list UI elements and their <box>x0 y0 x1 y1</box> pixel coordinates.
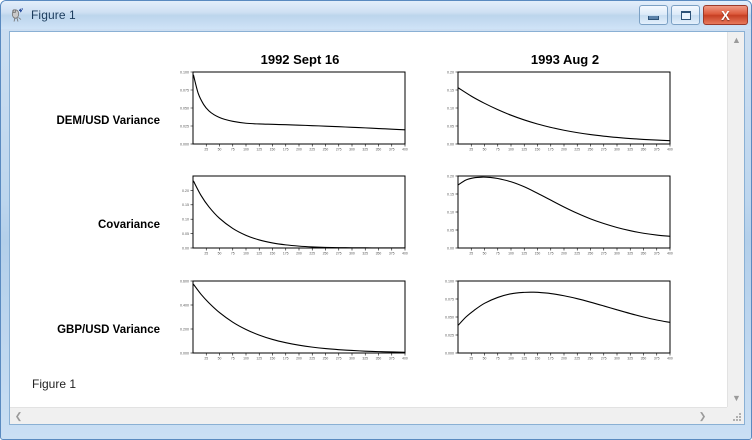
svg-text:325: 325 <box>627 147 633 151</box>
window-title: Figure 1 <box>31 8 76 22</box>
plot-gbp-usd-variance-1993[interactable]: 0.0000.0250.0500.0750.100255075100125150… <box>430 277 674 367</box>
svg-text:0.000: 0.000 <box>180 351 189 355</box>
scroll-down-icon[interactable]: ▼ <box>728 394 745 403</box>
svg-text:0.20: 0.20 <box>182 189 189 193</box>
svg-text:0.10: 0.10 <box>447 106 454 110</box>
svg-text:0.05: 0.05 <box>447 228 454 232</box>
svg-text:0.400: 0.400 <box>180 303 189 307</box>
svg-text:0.000: 0.000 <box>180 142 189 146</box>
svg-text:375: 375 <box>654 356 660 360</box>
close-button[interactable]: X <box>703 5 748 25</box>
svg-text:175: 175 <box>283 147 289 151</box>
svg-text:125: 125 <box>256 251 262 255</box>
svg-text:350: 350 <box>376 147 382 151</box>
plot-dem-usd-variance-1993[interactable]: 0.000.050.100.150.2025507510012515017520… <box>430 68 674 158</box>
svg-text:225: 225 <box>309 251 315 255</box>
figure-canvas: 1992 Sept 16 1993 Aug 2 DEM/USD Variance… <box>10 32 728 407</box>
svg-text:200: 200 <box>561 251 567 255</box>
svg-text:300: 300 <box>614 147 620 151</box>
svg-text:300: 300 <box>614 251 620 255</box>
plot-gbp-usd-variance-1992[interactable]: 0.0000.2000.4000.60025507510012515017520… <box>165 277 409 367</box>
svg-text:150: 150 <box>270 356 276 360</box>
svg-text:325: 325 <box>627 251 633 255</box>
scroll-up-icon[interactable]: ▲ <box>728 36 745 45</box>
svg-text:0.00: 0.00 <box>182 246 189 250</box>
svg-text:225: 225 <box>574 251 580 255</box>
svg-text:200: 200 <box>296 356 302 360</box>
svg-text:375: 375 <box>389 147 395 151</box>
svg-text:0.15: 0.15 <box>447 192 454 196</box>
svg-text:0.050: 0.050 <box>180 106 189 110</box>
svg-text:100: 100 <box>508 251 514 255</box>
svg-text:175: 175 <box>548 147 554 151</box>
minimize-button[interactable] <box>639 5 668 25</box>
svg-text:150: 150 <box>535 147 541 151</box>
svg-text:275: 275 <box>336 147 342 151</box>
svg-text:0.075: 0.075 <box>180 88 189 92</box>
svg-text:350: 350 <box>641 251 647 255</box>
svg-text:275: 275 <box>601 147 607 151</box>
svg-text:300: 300 <box>349 356 355 360</box>
column-title-right: 1993 Aug 2 <box>435 52 695 67</box>
svg-text:250: 250 <box>323 147 329 151</box>
svg-text:250: 250 <box>588 147 594 151</box>
svg-text:0.100: 0.100 <box>445 279 454 283</box>
svg-text:325: 325 <box>627 356 633 360</box>
svg-text:150: 150 <box>270 251 276 255</box>
svg-text:25: 25 <box>469 251 473 255</box>
svg-text:250: 250 <box>323 251 329 255</box>
vertical-scrollbar[interactable]: ▲ ▼ <box>727 32 744 407</box>
svg-text:300: 300 <box>349 251 355 255</box>
close-icon: X <box>721 9 730 22</box>
svg-text:200: 200 <box>561 356 567 360</box>
svg-text:275: 275 <box>336 251 342 255</box>
svg-text:275: 275 <box>336 356 342 360</box>
svg-text:0.050: 0.050 <box>445 315 454 319</box>
svg-text:0.20: 0.20 <box>447 174 454 178</box>
svg-text:75: 75 <box>231 356 235 360</box>
svg-text:175: 175 <box>283 356 289 360</box>
svg-text:50: 50 <box>218 251 222 255</box>
svg-text:375: 375 <box>654 147 660 151</box>
svg-text:325: 325 <box>362 356 368 360</box>
svg-text:125: 125 <box>256 147 262 151</box>
row-label-covariance: Covariance <box>10 219 160 231</box>
row-label-dem-usd-variance: DEM/USD Variance <box>10 115 160 127</box>
svg-text:50: 50 <box>483 251 487 255</box>
row-label-gbp-usd-variance: GBP/USD Variance <box>10 324 160 336</box>
minimize-icon <box>648 16 659 20</box>
maximize-icon <box>681 11 691 20</box>
svg-text:225: 225 <box>309 147 315 151</box>
svg-text:0.10: 0.10 <box>447 210 454 214</box>
svg-text:100: 100 <box>243 147 249 151</box>
svg-text:25: 25 <box>469 147 473 151</box>
svg-text:0.00: 0.00 <box>447 142 454 146</box>
scroll-left-icon[interactable]: ❮ <box>13 412 24 421</box>
svg-text:175: 175 <box>548 356 554 360</box>
svg-text:0.000: 0.000 <box>445 351 454 355</box>
svg-text:400: 400 <box>667 251 673 255</box>
svg-text:25: 25 <box>204 251 208 255</box>
svg-text:175: 175 <box>548 251 554 255</box>
svg-text:0.200: 0.200 <box>180 327 189 331</box>
svg-text:350: 350 <box>376 356 382 360</box>
svg-text:375: 375 <box>654 251 660 255</box>
maximize-button[interactable] <box>671 5 700 25</box>
figure-mouse-icon <box>9 7 25 23</box>
svg-text:275: 275 <box>601 251 607 255</box>
figure-plots-container: 1992 Sept 16 1993 Aug 2 DEM/USD Variance… <box>10 32 728 407</box>
svg-text:225: 225 <box>309 356 315 360</box>
svg-text:0.05: 0.05 <box>182 232 189 236</box>
svg-text:400: 400 <box>667 356 673 360</box>
svg-text:0.20: 0.20 <box>447 70 454 74</box>
horizontal-scrollbar[interactable]: ❮ ❯ <box>10 407 728 424</box>
svg-text:350: 350 <box>641 147 647 151</box>
svg-text:200: 200 <box>296 147 302 151</box>
svg-text:400: 400 <box>402 147 408 151</box>
svg-text:0.10: 0.10 <box>182 218 189 222</box>
svg-text:75: 75 <box>231 251 235 255</box>
svg-text:0.025: 0.025 <box>445 333 454 337</box>
svg-text:250: 250 <box>588 356 594 360</box>
svg-text:0.600: 0.600 <box>180 279 189 283</box>
svg-text:125: 125 <box>521 147 527 151</box>
figure-window: Figure 1 X 1992 Sept 16 1993 Aug 2 DEM/U… <box>0 0 752 440</box>
svg-text:50: 50 <box>483 147 487 151</box>
svg-text:25: 25 <box>204 356 208 360</box>
svg-text:0.075: 0.075 <box>445 297 454 301</box>
svg-text:350: 350 <box>376 251 382 255</box>
svg-text:100: 100 <box>508 147 514 151</box>
figure-caption: Figure 1 <box>32 377 76 391</box>
svg-text:75: 75 <box>496 356 500 360</box>
svg-text:150: 150 <box>535 251 541 255</box>
svg-text:400: 400 <box>402 356 408 360</box>
svg-text:0.15: 0.15 <box>447 88 454 92</box>
client-area: 1992 Sept 16 1993 Aug 2 DEM/USD Variance… <box>9 31 745 425</box>
svg-text:25: 25 <box>204 147 208 151</box>
svg-text:0.00: 0.00 <box>447 246 454 250</box>
plot-covariance-1992[interactable]: 0.000.050.100.150.2025507510012515017520… <box>165 172 409 262</box>
svg-text:250: 250 <box>588 251 594 255</box>
svg-text:0.100: 0.100 <box>180 70 189 74</box>
scroll-right-icon[interactable]: ❯ <box>697 412 708 421</box>
title-bar: Figure 1 X <box>1 1 752 29</box>
svg-text:50: 50 <box>218 356 222 360</box>
svg-text:0.05: 0.05 <box>447 124 454 128</box>
resize-grip-icon[interactable] <box>727 407 744 424</box>
svg-text:300: 300 <box>614 356 620 360</box>
svg-text:375: 375 <box>389 251 395 255</box>
column-title-left: 1992 Sept 16 <box>170 52 430 67</box>
svg-text:50: 50 <box>483 356 487 360</box>
svg-text:225: 225 <box>574 356 580 360</box>
svg-text:225: 225 <box>574 147 580 151</box>
svg-text:0.025: 0.025 <box>180 124 189 128</box>
svg-text:75: 75 <box>496 251 500 255</box>
svg-text:275: 275 <box>601 356 607 360</box>
plot-covariance-1993[interactable]: 0.000.050.100.150.2025507510012515017520… <box>430 172 674 262</box>
svg-text:150: 150 <box>535 356 541 360</box>
svg-text:200: 200 <box>296 251 302 255</box>
svg-text:25: 25 <box>469 356 473 360</box>
svg-text:75: 75 <box>231 147 235 151</box>
svg-text:300: 300 <box>349 147 355 151</box>
svg-text:125: 125 <box>521 251 527 255</box>
plot-dem-usd-variance-1992[interactable]: 0.0000.0250.0500.0750.100255075100125150… <box>165 68 409 158</box>
svg-text:400: 400 <box>402 251 408 255</box>
svg-text:400: 400 <box>667 147 673 151</box>
svg-text:125: 125 <box>256 356 262 360</box>
svg-text:75: 75 <box>496 147 500 151</box>
svg-text:100: 100 <box>243 356 249 360</box>
svg-text:100: 100 <box>243 251 249 255</box>
svg-text:125: 125 <box>521 356 527 360</box>
svg-text:375: 375 <box>389 356 395 360</box>
svg-text:175: 175 <box>283 251 289 255</box>
svg-text:0.15: 0.15 <box>182 203 189 207</box>
svg-text:325: 325 <box>362 147 368 151</box>
svg-text:250: 250 <box>323 356 329 360</box>
svg-text:100: 100 <box>508 356 514 360</box>
window-controls: X <box>639 5 748 25</box>
svg-text:200: 200 <box>561 147 567 151</box>
svg-text:150: 150 <box>270 147 276 151</box>
svg-text:50: 50 <box>218 147 222 151</box>
svg-text:325: 325 <box>362 251 368 255</box>
svg-text:350: 350 <box>641 356 647 360</box>
